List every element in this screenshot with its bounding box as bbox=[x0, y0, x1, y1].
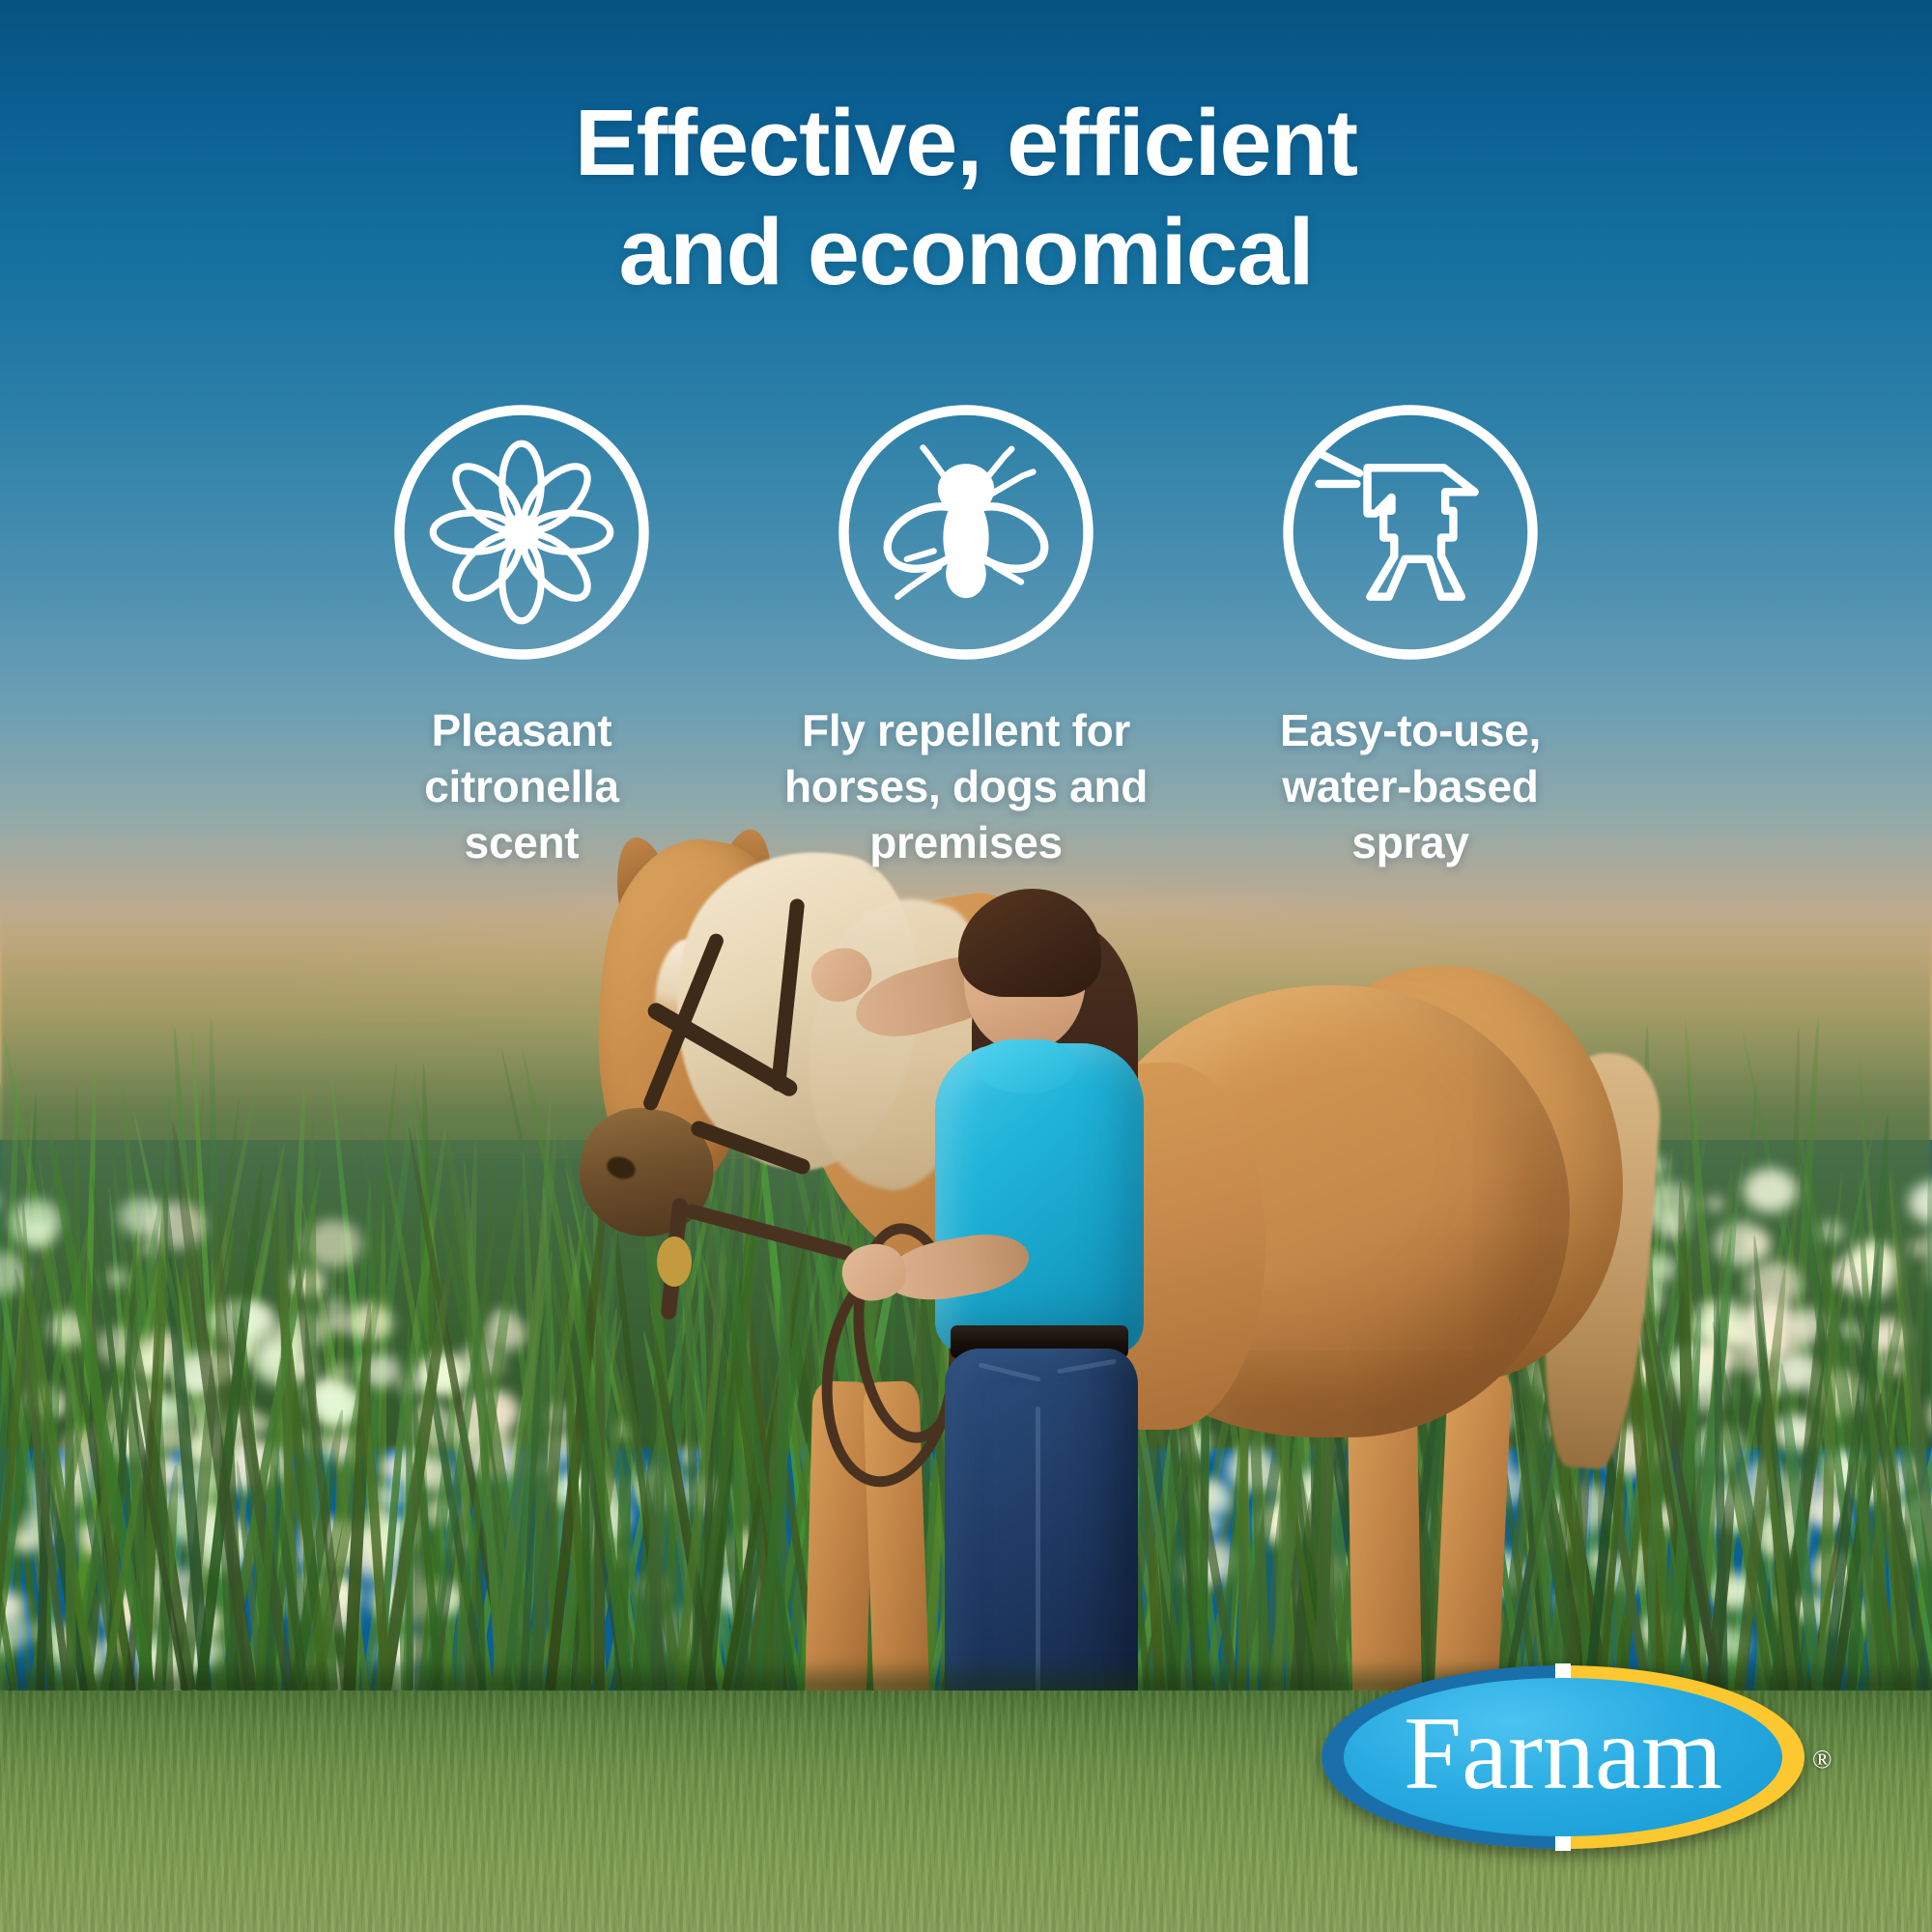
headline-line-2: and economical bbox=[0, 198, 1932, 307]
feature-item-fly-repellent: Fly repellent for horses, dogs and premi… bbox=[773, 398, 1159, 871]
page-title: Effective, efficient and economical bbox=[0, 89, 1932, 306]
feature-item-citronella: Pleasant citronella scent bbox=[328, 398, 715, 871]
registered-trademark-icon: ® bbox=[1812, 1745, 1833, 1775]
logo-wordmark: Farnam bbox=[1344, 1678, 1782, 1836]
spray-bottle-icon bbox=[1276, 398, 1545, 667]
farnam-logo[interactable]: Farnam ® bbox=[1321, 1665, 1804, 1849]
feature-list: Pleasant citronella scent bbox=[328, 398, 1604, 871]
fly-icon bbox=[832, 398, 1100, 667]
woman-shirt-collar bbox=[976, 1039, 1076, 1094]
flower-icon bbox=[387, 398, 656, 667]
feature-label-spray: Easy-to-use, water-based spray bbox=[1217, 703, 1604, 871]
halter-snap-clip bbox=[657, 1236, 692, 1287]
headline-line-1: Effective, efficient bbox=[0, 89, 1932, 198]
marketing-banner: Effective, efficient and economical bbox=[0, 0, 1932, 1932]
feature-label-citronella: Pleasant citronella scent bbox=[328, 703, 715, 871]
feature-item-spray: Easy-to-use, water-based spray bbox=[1217, 398, 1604, 871]
feature-label-fly-repellent: Fly repellent for horses, dogs and premi… bbox=[773, 703, 1159, 871]
